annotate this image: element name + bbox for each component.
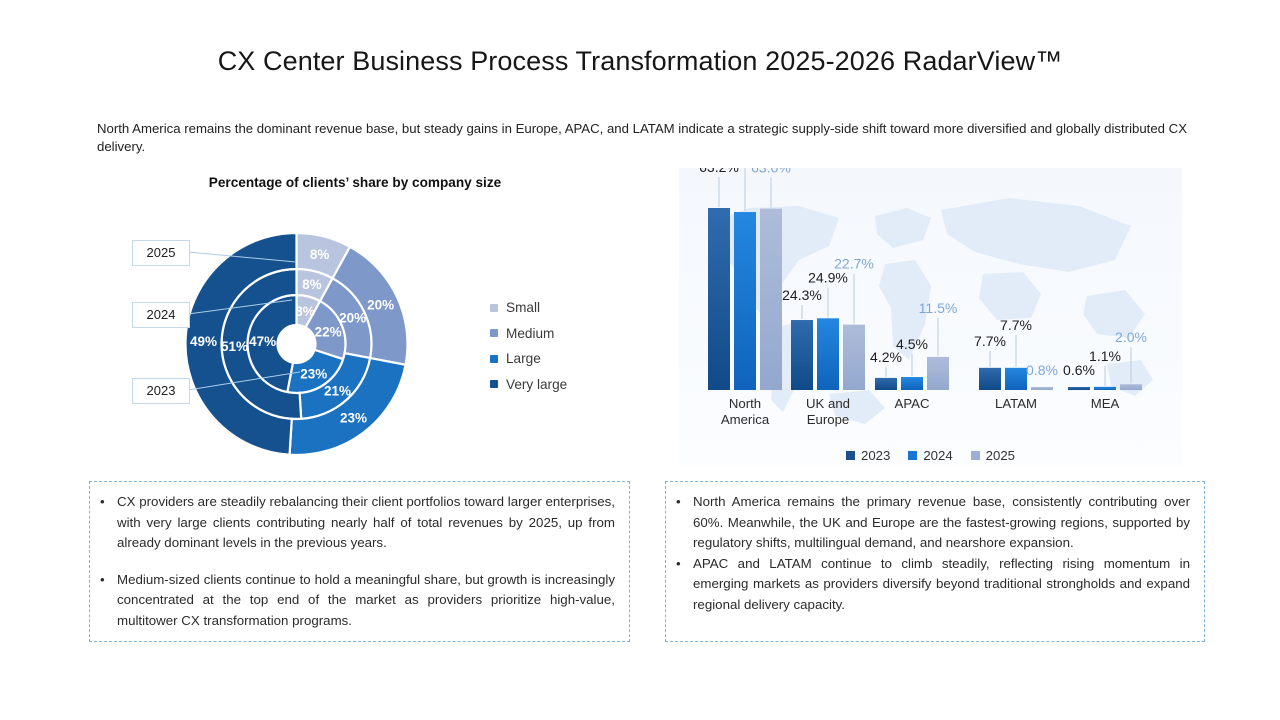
list-item-text: Medium-sized clients continue to hold a …	[117, 570, 615, 632]
bullet-icon: •	[676, 492, 693, 554]
legend-swatch-2023	[846, 451, 855, 460]
legend-label-2024: 2024	[923, 448, 952, 463]
legend-label-very-large: Very large	[506, 377, 567, 392]
bar-category-label-north-america: North	[729, 396, 761, 411]
legend-label-2025: 2025	[986, 448, 1015, 463]
list-item-text: North America remains the primary revenu…	[693, 492, 1190, 554]
bar-value-label-2025-uk-and-europe: 22.7%	[834, 256, 874, 272]
bar-chart: 63.2%61.8%63.0%24.3%24.9%22.7%4.2%4.5%11…	[679, 168, 1182, 466]
legend-label-2023: 2023	[861, 448, 890, 463]
bar-value-label-2024-apac: 4.5%	[896, 336, 928, 352]
bar-2024-uk-and-europe[interactable]	[817, 318, 839, 390]
donut-label-2023-medium: 22%	[315, 324, 342, 339]
bar-2024-north-america[interactable]	[734, 212, 756, 390]
donut-chart: 8%22%23%47%8%20%21%51%8%20%23%49% 2025 2…	[120, 200, 590, 470]
donut-label-2024-medium: 20%	[339, 311, 366, 326]
bullet-icon: •	[100, 570, 117, 632]
bar-2023-uk-and-europe[interactable]	[791, 320, 813, 390]
list-item: • CX providers are steadily rebalancing …	[100, 492, 615, 554]
bar-2023-mea[interactable]	[1068, 387, 1090, 390]
bar-category-label-uk-and-europe: Europe	[807, 412, 850, 427]
legend-swatch-2024	[908, 451, 917, 460]
legend-item-2025[interactable]: 2025	[971, 448, 1015, 463]
donut-year-label-2025: 2025	[132, 240, 190, 266]
donut-rings	[185, 233, 407, 455]
donut-label-2023-large: 23%	[300, 366, 327, 381]
legend-label-small: Small	[506, 300, 540, 315]
donut-year-label-2023: 2023	[132, 378, 190, 404]
list-item: • APAC and LATAM continue to climb stead…	[676, 554, 1190, 616]
legend-item-medium[interactable]: Medium	[490, 321, 567, 347]
insight-box-geography: • North America remains the primary reve…	[665, 481, 1205, 642]
bar-value-label-2023-uk-and-europe: 24.3%	[782, 287, 822, 303]
bar-value-label-2025-north-america: 63.0%	[751, 168, 791, 176]
legend-item-2024[interactable]: 2024	[908, 448, 952, 463]
legend-swatch-medium	[490, 329, 498, 337]
donut-year-label-2024: 2024	[132, 302, 190, 328]
legend-label-medium: Medium	[506, 326, 554, 341]
bar-value-label-2024-mea: 1.1%	[1089, 348, 1121, 364]
bar-value-label-2023-north-america: 63.2%	[699, 168, 739, 175]
bar-2023-north-america[interactable]	[708, 208, 730, 390]
bar-2023-latam[interactable]	[979, 368, 1001, 390]
bar-category-label-mea: MEA	[1091, 396, 1120, 411]
donut-label-2024-very-large: 51%	[221, 339, 248, 354]
bar-2025-latam[interactable]	[1031, 387, 1053, 390]
donut-label-2023-small: 8%	[295, 304, 315, 319]
legend-item-very-large[interactable]: Very large	[490, 372, 567, 398]
insight-box-clients: • CX providers are steadily rebalancing …	[89, 481, 630, 642]
bar-category-label-apac: APAC	[895, 396, 930, 411]
donut-label-2025-small: 8%	[310, 247, 330, 262]
list-item: • North America remains the primary reve…	[676, 492, 1190, 554]
legend-item-2023[interactable]: 2023	[846, 448, 890, 463]
donut-label-2025-very-large: 49%	[190, 334, 217, 349]
page-title: CX Center Business Process Transformatio…	[0, 46, 1280, 77]
bar-value-label-2025-apac: 11.5%	[919, 300, 958, 316]
bar-category-label-uk-and-europe: UK and	[806, 396, 850, 411]
bar-2025-apac[interactable]	[927, 357, 949, 390]
donut-label-2024-large: 21%	[324, 384, 351, 399]
bullet-icon: •	[676, 554, 693, 616]
legend-label-large: Large	[506, 351, 541, 366]
legend-swatch-very-large	[490, 380, 498, 388]
donut-label-2023-very-large: 47%	[249, 334, 276, 349]
legend-item-large[interactable]: Large	[490, 346, 567, 372]
intro-paragraph: North America remains the dominant reven…	[97, 120, 1197, 155]
bar-2025-mea[interactable]	[1120, 384, 1142, 390]
bar-2025-north-america[interactable]	[760, 209, 782, 390]
bar-category-label-latam: LATAM	[995, 396, 1037, 411]
bar-value-label-2025-latam: 0.8%	[1026, 362, 1058, 378]
list-item-text: APAC and LATAM continue to climb steadil…	[693, 554, 1190, 616]
bar-2025-uk-and-europe[interactable]	[843, 325, 865, 390]
bar-chart-svg: 63.2%61.8%63.0%24.3%24.9%22.7%4.2%4.5%11…	[679, 168, 1182, 466]
bar-series	[708, 168, 1142, 390]
bar-value-label-2024-latam: 7.7%	[1000, 317, 1032, 333]
list-item-text: CX providers are steadily rebalancing th…	[117, 492, 615, 554]
slide-canvas: CX Center Business Process Transformatio…	[0, 0, 1280, 720]
bar-value-label-2025-mea: 2.0%	[1115, 329, 1147, 345]
donut-label-2024-small: 8%	[302, 277, 322, 292]
legend-swatch-large	[490, 355, 498, 363]
donut-label-2025-medium: 20%	[367, 297, 394, 312]
list-item: • Medium-sized clients continue to hold …	[100, 570, 615, 632]
bar-chart-legend: 2023 2024 2025	[679, 448, 1182, 463]
bar-2024-mea[interactable]	[1094, 387, 1116, 390]
donut-chart-heading: Percentage of clients’ share by company …	[120, 175, 590, 190]
donut-label-2025-large: 23%	[340, 410, 367, 425]
bar-category-labels: NorthAmericaUK andEuropeAPACLATAMMEA	[721, 396, 1120, 427]
bar-value-label-2024-uk-and-europe: 24.9%	[808, 269, 848, 285]
bar-value-label-2023-mea: 0.6%	[1063, 362, 1095, 378]
bar-2024-latam[interactable]	[1005, 368, 1027, 390]
bar-2024-apac[interactable]	[901, 377, 923, 390]
bar-value-label-2023-latam: 7.7%	[974, 333, 1006, 349]
legend-swatch-2025	[971, 451, 980, 460]
bar-2023-apac[interactable]	[875, 378, 897, 390]
donut-legend: Small Medium Large Very large	[490, 295, 567, 397]
bar-category-label-north-america: America	[721, 412, 770, 427]
legend-item-small[interactable]: Small	[490, 295, 567, 321]
legend-swatch-small	[490, 304, 498, 312]
bullet-icon: •	[100, 492, 117, 554]
